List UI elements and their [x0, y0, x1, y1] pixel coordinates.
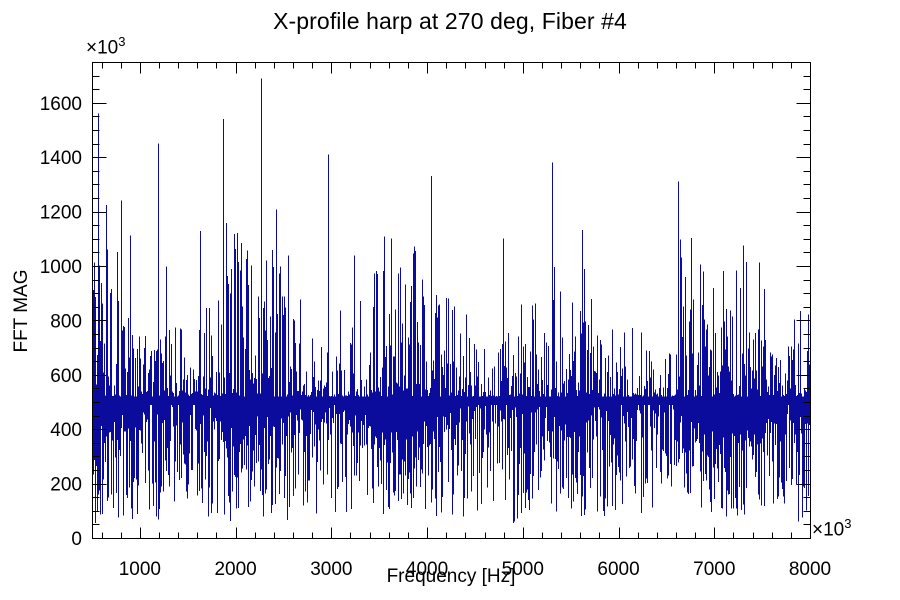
x-tick-label: 1000: [119, 559, 161, 580]
chart-canvas: X-profile harp at 270 deg, Fiber #4 ×103…: [0, 0, 900, 600]
x-tick-label: 7000: [693, 559, 735, 580]
y-tick-label: 800: [50, 311, 82, 332]
y-tick-label: 1000: [40, 257, 82, 278]
y-tick-label: 1400: [40, 148, 82, 169]
fft-magnitude-series: [93, 78, 811, 523]
x-tick-label: 8000: [789, 559, 831, 580]
y-tick-label: 0: [71, 529, 82, 550]
x-tick-label: 2000: [214, 559, 256, 580]
x-tick-label: 6000: [597, 559, 639, 580]
y-tick-label: 400: [50, 420, 82, 441]
y-tick-label: 600: [50, 366, 82, 387]
chart-plot-area: 1000200030004000500060007000800002004006…: [0, 0, 900, 600]
y-tick-label: 1600: [40, 94, 82, 115]
x-tick-label: 4000: [406, 559, 448, 580]
y-tick-label: 200: [50, 475, 82, 496]
x-tick-label: 3000: [310, 559, 352, 580]
y-tick-label: 1200: [40, 203, 82, 224]
x-tick-label: 5000: [502, 559, 544, 580]
